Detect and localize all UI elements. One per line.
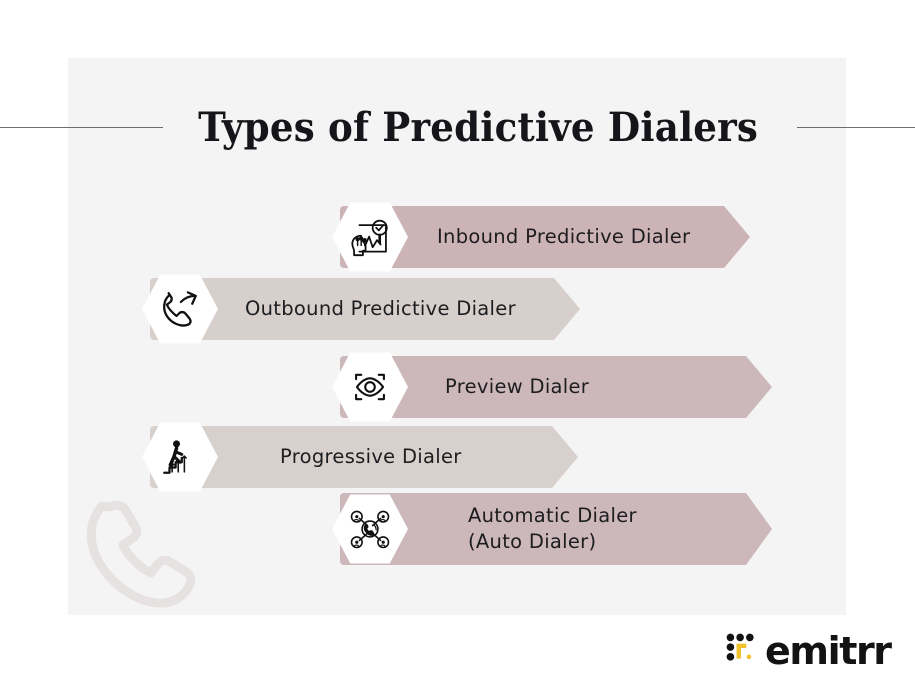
list-item-label: Progressive Dialer <box>280 444 462 470</box>
list-item-preview-dialer[interactable]: Preview Dialer <box>340 356 772 418</box>
title-rule-right <box>797 127 915 128</box>
emitrr-dot-matrix-icon <box>726 633 756 668</box>
list-item-label: Outbound Predictive Dialer <box>245 296 516 322</box>
list-item-outbound-predictive-dialer[interactable]: Outbound Predictive Dialer <box>150 278 580 340</box>
emitrr-wordmark: emitrr <box>765 632 891 670</box>
title-rule-left <box>0 127 163 128</box>
phone-handset-outline-icon <box>78 488 213 618</box>
infographic-canvas: Types of Predictive Dialers Inbound Pred… <box>0 0 915 686</box>
list-item-label: Inbound Predictive Dialer <box>437 224 690 250</box>
page-title: Types of Predictive Dialers <box>185 104 771 151</box>
list-item-automatic-dialer[interactable]: Automatic Dialer (Auto Dialer) <box>340 493 772 565</box>
list-item-label: Automatic Dialer (Auto Dialer) <box>468 503 637 554</box>
emitrr-logo[interactable]: emitrr <box>726 631 891 669</box>
list-item-progressive-dialer[interactable]: Progressive Dialer <box>150 426 578 488</box>
list-item-label: Preview Dialer <box>445 374 589 400</box>
page-title-row: Types of Predictive Dialers <box>0 96 915 158</box>
list-item-inbound-predictive-dialer[interactable]: Inbound Predictive Dialer <box>340 206 750 268</box>
